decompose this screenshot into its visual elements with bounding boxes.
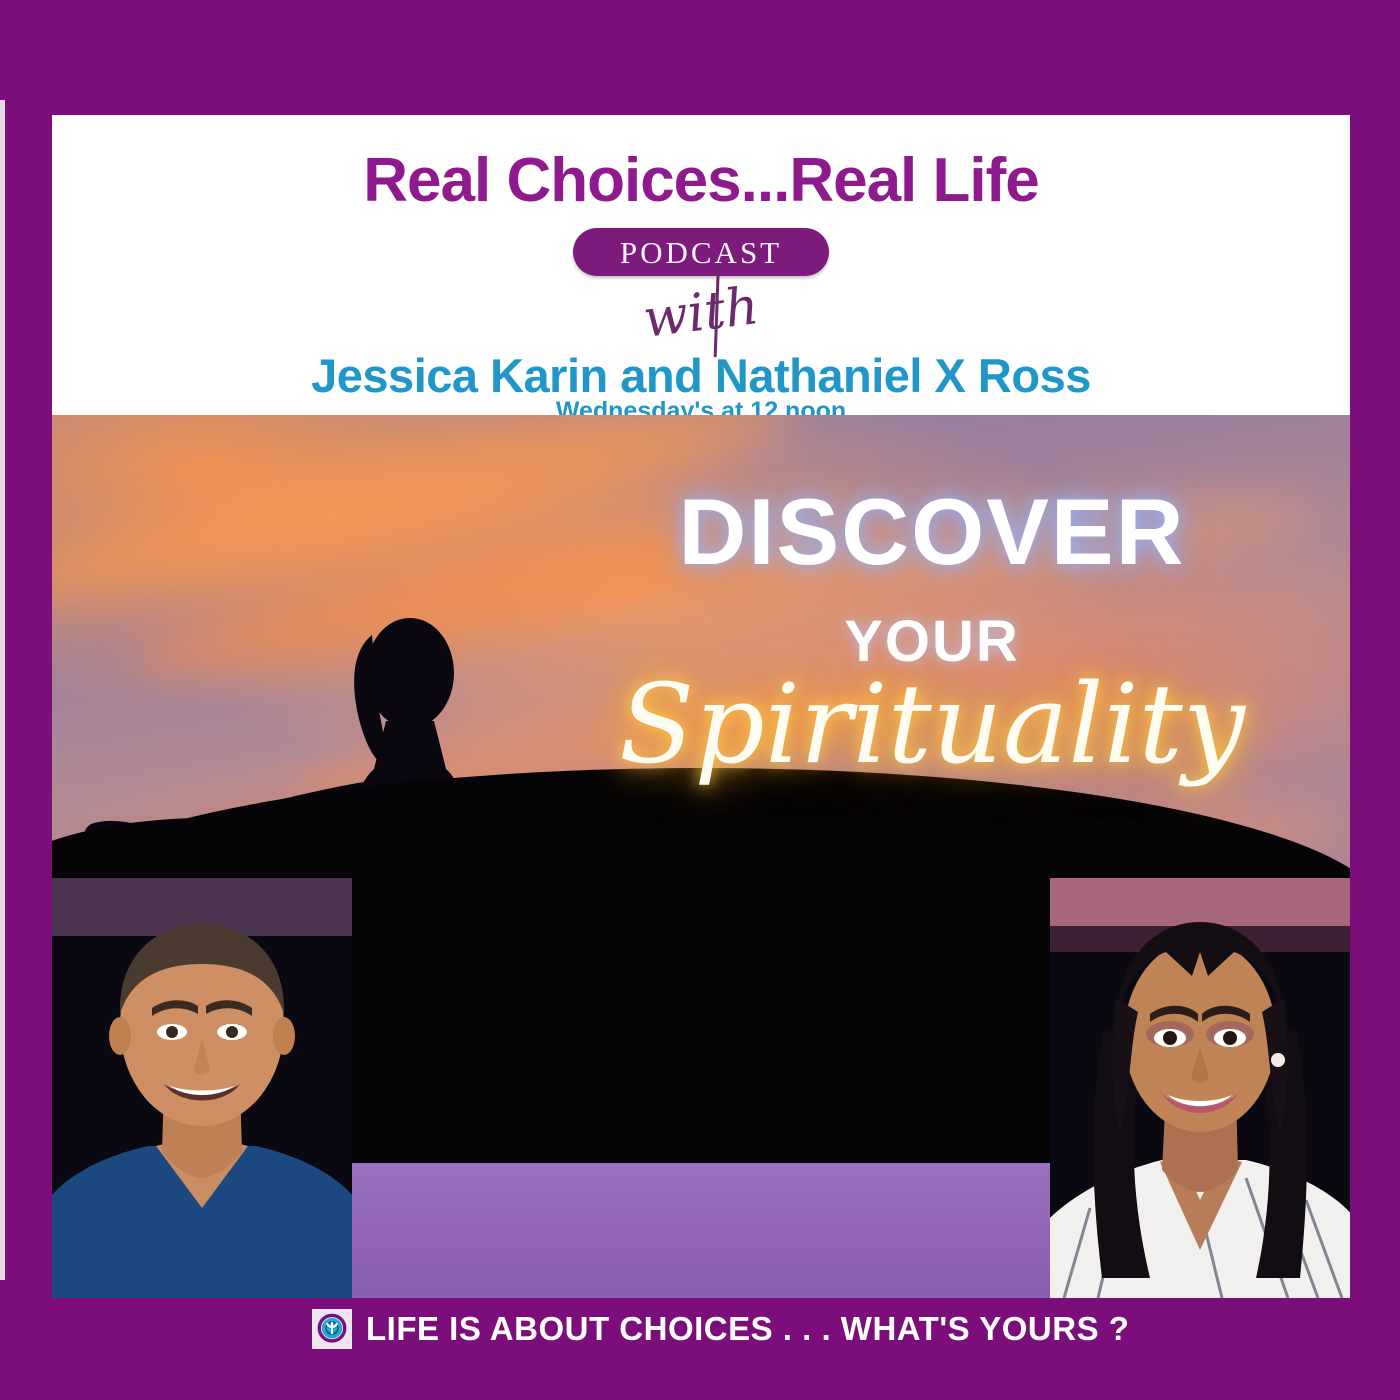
episode-artwork-photo: DISCOVER YOUR Spirituality	[52, 415, 1350, 1298]
tagline-text: LIFE IS ABOUT CHOICES . . . WHAT'S YOURS…	[366, 1310, 1129, 1348]
avatar-host-male	[52, 878, 352, 1298]
circular-logo-icon	[312, 1309, 352, 1349]
podcast-badge-label: PODCAST	[620, 237, 782, 268]
avatar-host-female	[1050, 878, 1350, 1298]
page-title: Real Choices...Real Life	[52, 145, 1350, 216]
left-edge-accent-strip	[0, 100, 5, 1280]
show-header-card: Real Choices...Real Life PODCAST with Je…	[52, 115, 1350, 415]
podcast-cover-art: Real Choices...Real Life PODCAST with Je…	[0, 0, 1400, 1400]
tagline-banner: LIFE IS ABOUT CHOICES . . . WHAT'S YOURS…	[52, 1298, 1350, 1360]
schedule-text: Wednesday's at 12 noon	[52, 397, 1350, 415]
podcast-badge: PODCAST	[573, 228, 829, 276]
with-script-word: with	[640, 280, 761, 346]
hosts-names: Jessica Karin and Nathaniel X Ross	[52, 348, 1350, 403]
